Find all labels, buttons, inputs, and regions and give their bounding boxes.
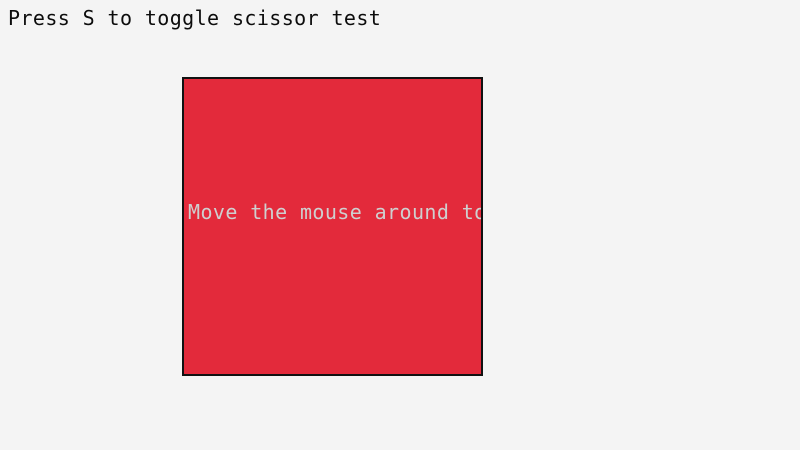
instruction-text: Press S to toggle scissor test [8, 7, 381, 29]
scissor-clip-area: Move the mouse around to r [184, 79, 481, 374]
demo-canvas: Press S to toggle scissor test Move the … [0, 0, 800, 450]
scissor-rectangle[interactable]: Move the mouse around to r [182, 77, 483, 376]
scissor-clipped-text: Move the mouse around to r [188, 201, 481, 223]
